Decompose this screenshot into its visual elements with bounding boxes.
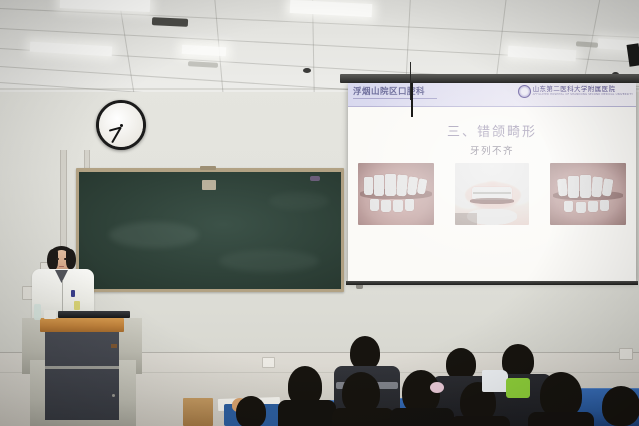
slide-photo-crowded-upper-teeth	[358, 163, 434, 225]
ceiling-vent-3-icon	[576, 41, 598, 48]
lecture-hall-photo: 浮烟山院区口腔科 山东第二医科大学附属医院 AFFILIATED HOSPITA…	[0, 0, 639, 426]
eraser-icon	[310, 176, 320, 181]
clock-center-pin	[120, 124, 123, 127]
slide-section-title: 三、错颌畸形	[348, 121, 636, 140]
screen-bar-end	[356, 285, 363, 289]
student-front-7	[232, 396, 276, 426]
power-outlet-icon	[262, 357, 275, 368]
ceiling-light-5	[508, 46, 577, 62]
student-front-3	[394, 370, 452, 426]
slide-photo-malocclusion-front	[550, 163, 626, 225]
screen-pull-cord-lower	[411, 83, 413, 117]
screen-weight-bar	[346, 281, 638, 285]
podium-top-ledge	[40, 318, 124, 332]
ceiling-vent-icon	[152, 17, 188, 27]
white-bag	[482, 370, 508, 392]
slide-subtitle: 牙列不齐	[348, 143, 636, 157]
university-seal-icon	[518, 85, 531, 98]
side-desk	[183, 398, 213, 426]
wall-conduit-1	[60, 150, 67, 260]
podium-monitor	[58, 311, 130, 318]
podium-rail	[45, 366, 119, 369]
podium-label	[111, 344, 117, 348]
ceiling-speaker-icon	[303, 68, 311, 73]
ceiling-vent-2-icon	[188, 61, 218, 68]
logo-org-en: AFFILIATED HOSPITAL OF SHANDONG SECOND M…	[533, 93, 633, 97]
student-front-5	[530, 372, 592, 426]
power-outlet-2-icon	[619, 348, 633, 360]
ceiling-light-3	[30, 42, 112, 57]
slide-content: 浮烟山院区口腔科 山东第二医科大学附属医院 AFFILIATED HOSPITA…	[348, 83, 636, 281]
green-bag	[506, 378, 530, 398]
slide-header-text: 浮烟山院区口腔科	[353, 86, 425, 98]
slide-photo-row	[358, 163, 626, 225]
ceiling-light-4	[182, 45, 226, 57]
podium-lock-icon	[112, 394, 115, 397]
lecturer-id-card	[74, 301, 80, 310]
hair-scrunchie	[430, 382, 444, 393]
ceiling-light-2	[290, 0, 373, 17]
chalkboard-notice	[202, 180, 216, 190]
screen-roller-case	[340, 74, 639, 83]
chalk-tray-clip	[200, 166, 216, 170]
student-front-6	[596, 386, 639, 426]
podium-front-panel	[45, 332, 119, 420]
ceiling-light-1	[60, 0, 150, 12]
water-bottle	[34, 304, 41, 320]
braces-archwire	[473, 192, 511, 194]
student-front-2	[336, 372, 392, 426]
lecturer-eye-left	[56, 258, 59, 260]
projection-screen: 浮烟山院区口腔科 山东第二医科大学附属医院 AFFILIATED HOSPITA…	[348, 83, 636, 281]
slide-photo-smile-with-braces	[455, 163, 529, 225]
slide-header-underline	[353, 98, 437, 99]
hospital-logo: 山东第二医科大学附属医院 AFFILIATED HOSPITAL OF SHAN…	[518, 85, 633, 98]
student-front-1	[282, 366, 334, 426]
logo-org-cn: 山东第二医科大学附属医院	[533, 86, 633, 93]
lecturer-eye-right	[64, 258, 67, 260]
lecturer-badge	[71, 290, 75, 297]
papers-on-lectern	[44, 310, 56, 319]
wall-clock	[96, 100, 146, 150]
projector-mount	[627, 43, 639, 66]
